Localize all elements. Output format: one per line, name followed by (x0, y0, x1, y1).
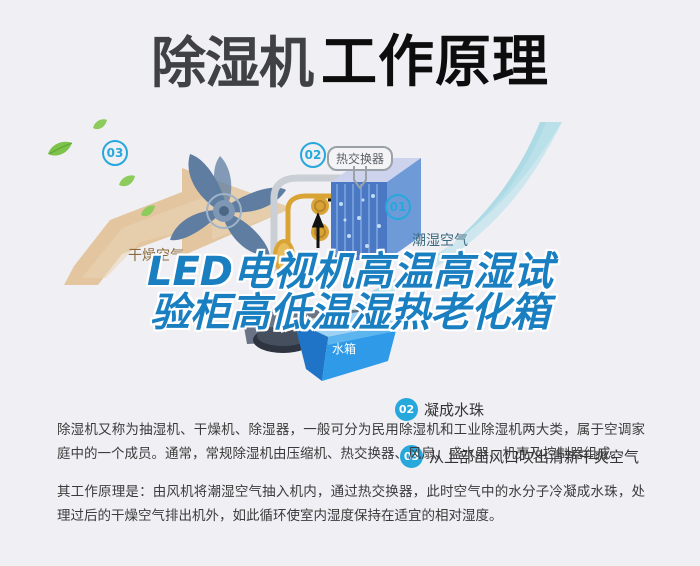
leaf-icon (118, 174, 136, 193)
leaf-icon (92, 118, 108, 136)
marker-01-humid-air: 01 (385, 194, 411, 220)
title-part-two: 工作原理 (321, 35, 549, 91)
callout-pointer (350, 164, 380, 194)
poster-page: 除湿机 工作原理 (0, 0, 700, 566)
humid-air-label: 潮湿空气 (412, 230, 468, 250)
paragraph-definition: 除湿机又称为抽湿机、干燥机、除湿器，一般可分为民用除湿机和工业除湿机两大类，属于… (57, 418, 645, 466)
title-part-one: 除湿机 (151, 36, 313, 91)
page-title: 除湿机 工作原理 (0, 24, 700, 102)
paragraph-principle: 其工作原理是：由风机将潮湿空气抽入机内，通过热交换器，此时空气中的水分子冷凝成水… (57, 480, 645, 528)
description-text: 除湿机又称为抽湿机、干燥机、除湿器，一般可分为民用除湿机和工业除湿机两大类，属于… (57, 418, 645, 528)
leaf-icon (140, 204, 156, 223)
dry-air-label: 干燥空气 (128, 245, 184, 265)
note-text-02: 凝成水珠 (424, 399, 484, 420)
dehumidifier-diagram: 03 02 01 热交换器 干燥空气 潮湿空气 水箱 02 凝成水珠 03 从上… (0, 112, 700, 402)
marker-02-heat-exchanger: 02 (300, 142, 326, 168)
leaf-icon (46, 140, 74, 163)
marker-03-dry-air: 03 (102, 140, 128, 166)
water-tank-label: 水箱 (332, 340, 356, 357)
